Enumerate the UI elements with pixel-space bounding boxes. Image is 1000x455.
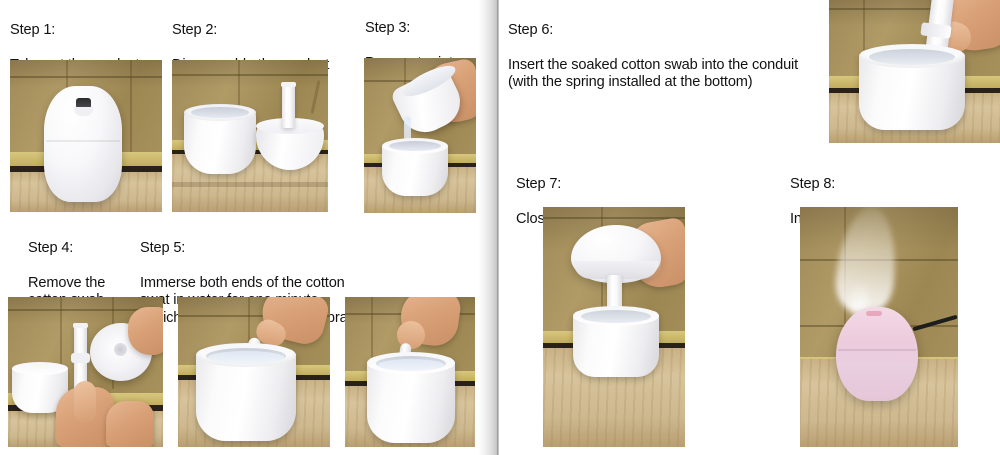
photo-step-7 [543,207,685,447]
photo-step-3 [364,58,476,213]
instruction-sheet: Step 1: Take out the product Step 2: Dis… [0,0,1000,455]
step-3-heading: Step 3: [365,20,461,38]
step-5-heading: Step 5: [140,240,468,258]
step-1-heading: Step 1: [10,22,139,40]
photo-step-5a [178,297,330,447]
page-fold-highlight [499,0,504,455]
photo-step-6 [829,0,1000,143]
step-2-heading: Step 2: [172,22,329,40]
photo-step-1 [10,60,162,212]
photo-step-5b [345,297,475,447]
step-8-heading: Step 8: [790,176,957,194]
step-6-caption: Step 6: Insert the soaked cotton swab in… [508,4,798,110]
step-6-body: Insert the soaked cotton swab into the c… [508,57,798,92]
photo-step-2 [172,60,328,212]
step-7-heading: Step 7: [516,176,684,194]
step-4-heading: Step 4: [28,240,105,258]
step-6-heading: Step 6: [508,22,798,40]
photo-step-8 [800,207,958,447]
photo-step-4 [8,297,163,447]
